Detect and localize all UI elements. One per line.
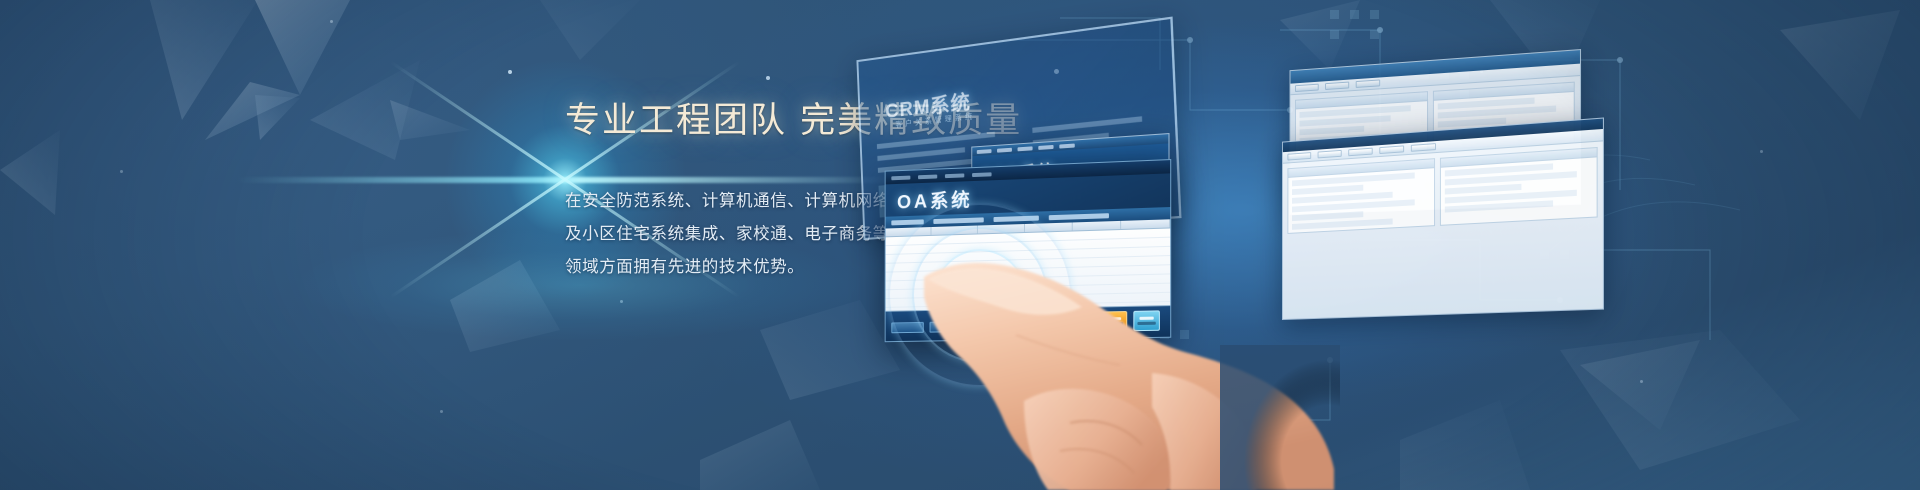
- panel: [1439, 147, 1597, 226]
- menu-item[interactable]: [891, 175, 910, 180]
- pointing-hand-icon: [920, 225, 1340, 490]
- menu-item[interactable]: [1038, 144, 1053, 149]
- hero-banner: 专业工程团队 完美精致质量 在安全防范系统、计算机通信、计算机网络、智能大厦 及…: [0, 0, 1920, 490]
- footer-button[interactable]: [891, 321, 923, 332]
- toolbar-button[interactable]: [1411, 143, 1436, 152]
- toolbar-button[interactable]: [1318, 150, 1342, 159]
- toolbar-button[interactable]: [1287, 152, 1311, 160]
- toolbar-button[interactable]: [1348, 148, 1372, 157]
- menu-item[interactable]: [1059, 143, 1074, 148]
- menu-item[interactable]: [1018, 146, 1033, 151]
- toolbar-button[interactable]: [1049, 213, 1109, 220]
- toolbar-button[interactable]: [1379, 145, 1404, 154]
- toolbar-button[interactable]: [891, 219, 923, 225]
- menu-item[interactable]: [945, 173, 964, 178]
- screens-cluster: CRM系统 客户关系管理系统: [860, 0, 1920, 490]
- panel: [1287, 158, 1434, 234]
- panel-row: [1300, 126, 1364, 135]
- toolbar-button[interactable]: [994, 215, 1039, 222]
- oa-title: OA系统: [897, 185, 973, 214]
- panel-header: [1433, 83, 1573, 101]
- menu-item[interactable]: [918, 174, 937, 179]
- toolbar-button[interactable]: [933, 217, 983, 224]
- toolbar-button[interactable]: [1295, 84, 1319, 92]
- toolbar-button[interactable]: [1356, 79, 1380, 88]
- toolbar-button[interactable]: [1325, 82, 1349, 90]
- menu-item[interactable]: [977, 149, 992, 154]
- menu-item[interactable]: [997, 147, 1012, 152]
- menu-item[interactable]: [972, 172, 992, 177]
